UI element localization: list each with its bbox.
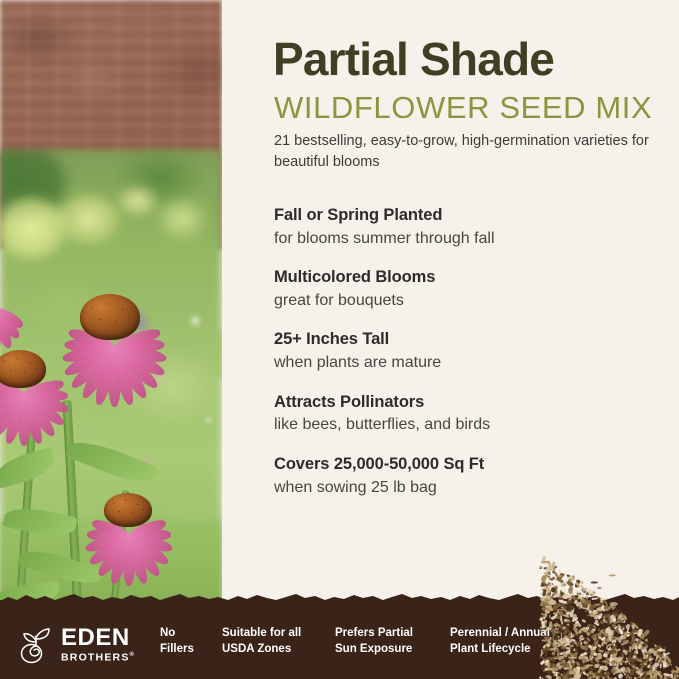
status-badge: No Fillers xyxy=(160,626,222,657)
list-item: Attracts Pollinators like bees, butterfl… xyxy=(274,392,669,436)
coneflower-left xyxy=(0,346,76,442)
footer-badges: No Fillers Suitable for all USDA Zones P… xyxy=(160,626,580,657)
feature-heading: Multicolored Blooms xyxy=(274,267,669,288)
list-item: Fall or Spring Planted for blooms summer… xyxy=(274,205,669,249)
feature-subtext: like bees, butterflies, and birds xyxy=(274,414,669,436)
brand-logo[interactable]: EDEN BROTHERS® xyxy=(17,624,135,664)
brand-name-primary: EDEN xyxy=(61,626,135,650)
product-infographic: Partial Shade WILDFLOWER SEED MIX 21 bes… xyxy=(0,0,679,679)
coneflower-petals xyxy=(0,276,30,342)
coneflower-edge xyxy=(0,276,30,342)
brand-name-secondary: BROTHERS® xyxy=(61,652,135,663)
coneflower-lower xyxy=(78,490,180,582)
brand-wordmark: EDEN BROTHERS® xyxy=(61,626,135,663)
feature-subtext: when plants are mature xyxy=(274,352,669,374)
feature-subtext: when sowing 25 lb bag xyxy=(274,477,669,499)
feature-heading: Attracts Pollinators xyxy=(274,392,669,413)
product-description: 21 bestselling, easy-to-grow, high-germi… xyxy=(274,131,664,173)
feature-heading: Covers 25,000-50,000 Sq Ft xyxy=(274,454,669,475)
product-photo xyxy=(0,0,222,614)
feature-subtext: great for bouquets xyxy=(274,290,669,312)
footer-content: EDEN BROTHERS® No Fillers Suitable for a… xyxy=(0,600,679,679)
status-badge: Perennial / Annual Plant Lifecycle xyxy=(450,626,580,657)
coneflower-center xyxy=(0,350,46,388)
product-subtitle: WILDFLOWER SEED MIX xyxy=(274,92,652,123)
coneflower-center xyxy=(104,493,152,527)
list-item: 25+ Inches Tall when plants are mature xyxy=(274,329,669,373)
registered-mark: ® xyxy=(130,652,136,658)
status-badge: Prefers Partial Sun Exposure xyxy=(335,626,450,657)
brand-secondary-text: BROTHERS xyxy=(61,651,130,663)
feature-heading: 25+ Inches Tall xyxy=(274,329,669,350)
page-title: Partial Shade xyxy=(273,36,554,82)
coneflower-center xyxy=(80,294,140,340)
status-badge: Suitable for all USDA Zones xyxy=(222,626,335,657)
list-item: Multicolored Blooms great for bouquets xyxy=(274,267,669,311)
sprout-seedling-icon xyxy=(17,624,55,664)
list-item: Covers 25,000-50,000 Sq Ft when sowing 2… xyxy=(274,454,669,498)
feature-heading: Fall or Spring Planted xyxy=(274,205,669,226)
content-panel: Partial Shade WILDFLOWER SEED MIX 21 bes… xyxy=(222,0,679,614)
footer-bar: EDEN BROTHERS® No Fillers Suitable for a… xyxy=(0,600,679,679)
feature-subtext: for blooms summer through fall xyxy=(274,228,669,250)
feature-list: Fall or Spring Planted for blooms summer… xyxy=(274,205,669,516)
